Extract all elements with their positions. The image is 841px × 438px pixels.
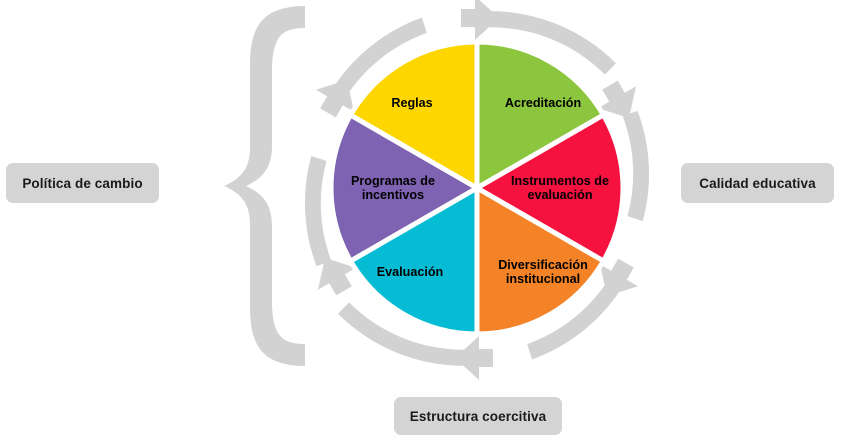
cycle-diagram-svg <box>0 0 841 438</box>
arrowhead-icon <box>455 336 493 380</box>
pie-wedges <box>331 42 623 334</box>
diagram-canvas: Acreditación Instrumentos de evaluación … <box>0 0 841 438</box>
curly-brace-icon <box>224 6 305 366</box>
arrowhead-icon <box>461 0 499 40</box>
callout-calidad-educativa[interactable]: Calidad educativa <box>681 163 834 203</box>
callout-estructura-coercitiva[interactable]: Estructura coercitiva <box>394 397 562 435</box>
callout-politica-de-cambio[interactable]: Política de cambio <box>6 163 159 203</box>
